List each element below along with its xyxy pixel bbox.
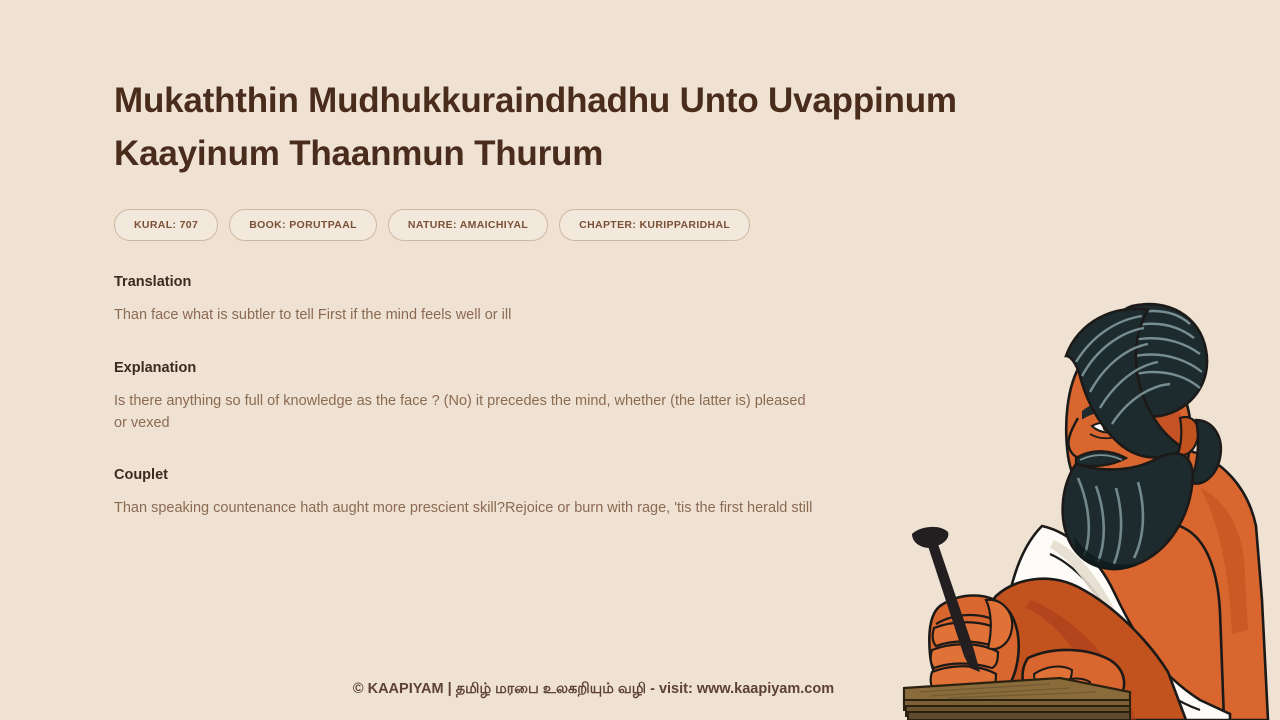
couplet-text: Than speaking countenance hath aught mor…: [114, 497, 866, 519]
face-shadow: [1140, 370, 1185, 514]
page-title: Mukaththin Mudhukkuraindhadhu Unto Uvapp…: [114, 74, 994, 180]
badge-chapter[interactable]: CHAPTER: KURIPPARIDHAL: [559, 209, 750, 241]
sage-face: [1066, 355, 1190, 518]
translation-text: Than face what is subtler to tell First …: [114, 304, 874, 326]
sage-nose: [1068, 418, 1088, 459]
translation-heading: Translation: [114, 273, 1014, 291]
meta-badge-row: KURAL: 707 BOOK: PORUTPAAL NATURE: AMAIC…: [114, 209, 1014, 241]
sage-eye: [1092, 423, 1124, 433]
kural-card-page: Mukaththin Mudhukkuraindhadhu Unto Uvapp…: [0, 0, 1280, 720]
sage-pupil: [1103, 425, 1109, 431]
section-explanation: Explanation Is there anything so full of…: [114, 359, 1014, 434]
couplet-heading: Couplet: [114, 466, 1014, 484]
fist-thumb: [986, 600, 1012, 649]
sage-ear: [1178, 417, 1198, 455]
footer-credit: © KAAPIYAM | தமிழ் மரபை உலகறியும் வழி - …: [0, 679, 1187, 699]
sage-hair-bun: [1102, 304, 1207, 416]
badge-kural[interactable]: KURAL: 707: [114, 209, 218, 241]
badge-book[interactable]: BOOK: PORUTPAAL: [229, 209, 377, 241]
shawl-fold-3: [1024, 618, 1128, 720]
sage-eyebrow: [1084, 404, 1128, 416]
sage-right-arm-shadow: [1200, 488, 1248, 634]
left-arm-shadow: [1026, 600, 1136, 720]
sage-eyelid: [1090, 432, 1126, 438]
section-couplet: Couplet Than speaking countenance hath a…: [114, 466, 1014, 519]
sage-hair-crown: [1066, 309, 1184, 458]
fist-knuckles: [936, 615, 1002, 624]
badge-nature[interactable]: NATURE: AMAICHIYAL: [388, 209, 548, 241]
stylus-icon: [912, 527, 980, 672]
sage-beard: [1063, 453, 1193, 569]
explanation-text: Is there anything so full of knowledge a…: [114, 390, 820, 434]
sage-neck: [1098, 468, 1176, 537]
hair-crown-highlights: [1076, 316, 1170, 424]
section-translation: Translation Than face what is subtler to…: [114, 273, 1014, 326]
explanation-heading: Explanation: [114, 359, 1014, 377]
shawl-shadow: [1050, 540, 1124, 636]
sage-side-hair: [1190, 420, 1221, 484]
moustache-highlight: [1080, 455, 1122, 460]
beard-highlights: [1078, 478, 1143, 564]
content-column: Mukaththin Mudhukkuraindhadhu Unto Uvapp…: [114, 0, 1014, 519]
beard-shadow: [1074, 536, 1140, 570]
sage-moustache: [1076, 451, 1126, 466]
hair-bun-highlights: [1106, 311, 1202, 388]
